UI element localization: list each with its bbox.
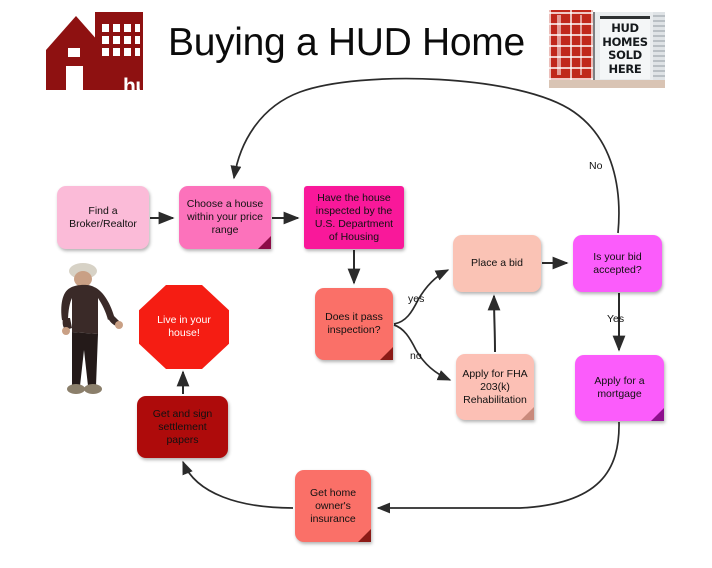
edge-label-yes-bid: Yes — [607, 313, 624, 325]
node-inspect-house[interactable]: Have the houseinspected by theU.S. Depar… — [304, 186, 404, 249]
sign-line-4: HERE — [600, 63, 650, 77]
slide-canvas: hud Buying a HUD Home HUD HOMES SOLD HER… — [0, 0, 712, 568]
window-sign-text: HUD HOMES SOLD HERE — [600, 22, 650, 76]
node-choose-house[interactable]: Choose a housewithin your pricerange — [179, 186, 271, 249]
arrow-mortgage-to-insurance — [378, 422, 619, 508]
window-sign: HUD HOMES SOLD HERE — [600, 16, 650, 79]
arrow-no-loop-to-choose — [234, 79, 619, 233]
node-label: Live in yourhouse! — [157, 314, 211, 340]
page-title: Buying a HUD Home — [168, 18, 525, 68]
node-label: Choose a housewithin your pricerange — [184, 198, 266, 237]
brick-wall-rows — [549, 15, 593, 75]
edge-label-no-inspection: no — [410, 350, 422, 362]
node-home-insurance[interactable]: Get homeowner'sinsurance — [295, 470, 371, 542]
node-label: Get homeowner'sinsurance — [300, 487, 366, 526]
sign-line-1: HUD — [600, 22, 650, 36]
edge-label-no-top: No — [589, 160, 602, 172]
hud-logo-wordmark: hud — [123, 76, 160, 97]
sign-line-3: SOLD — [600, 49, 650, 63]
node-label: Get and signsettlementpapers — [142, 408, 223, 447]
node-label: Apply for amortgage — [580, 375, 659, 401]
elderly-person-graphic — [50, 258, 130, 398]
elderly-person-photo — [50, 258, 130, 398]
sign-line-2: HOMES — [600, 36, 650, 50]
arrow-no-to-fha — [394, 325, 450, 380]
node-label: Place a bid — [458, 257, 536, 270]
hud-logo: hud — [38, 6, 164, 98]
node-find-broker[interactable]: Find aBroker/Realtor — [57, 186, 149, 249]
node-bid-accepted[interactable]: Is your bidaccepted? — [573, 235, 662, 292]
node-pass-inspection[interactable]: Does it passinspection? — [315, 288, 393, 360]
hud-homes-sold-here-photo: HUD HOMES SOLD HERE — [549, 10, 665, 88]
node-fha-203k[interactable]: Apply for FHA203(k)Rehabilitation — [456, 354, 534, 420]
storefront-window: HUD HOMES SOLD HERE — [593, 12, 665, 80]
node-label: Is your bidaccepted? — [578, 251, 657, 277]
arrow-fha-to-bid — [494, 296, 495, 352]
node-label: Find aBroker/Realtor — [62, 205, 144, 231]
window-blinds — [653, 12, 665, 80]
window-sill — [549, 80, 665, 88]
node-label: Does it passinspection? — [320, 311, 388, 337]
node-place-bid[interactable]: Place a bid — [453, 235, 541, 292]
arrow-insurance-to-settlement — [183, 462, 293, 508]
node-apply-mortgage[interactable]: Apply for amortgage — [575, 355, 664, 421]
node-label: Have the houseinspected by theU.S. Depar… — [309, 192, 399, 244]
node-settlement-papers[interactable]: Get and signsettlementpapers — [137, 396, 228, 458]
edge-label-yes-inspection: yes — [408, 293, 424, 305]
node-live-in-house[interactable]: Live in yourhouse! — [139, 285, 229, 369]
node-label: Apply for FHA203(k)Rehabilitation — [461, 368, 529, 407]
